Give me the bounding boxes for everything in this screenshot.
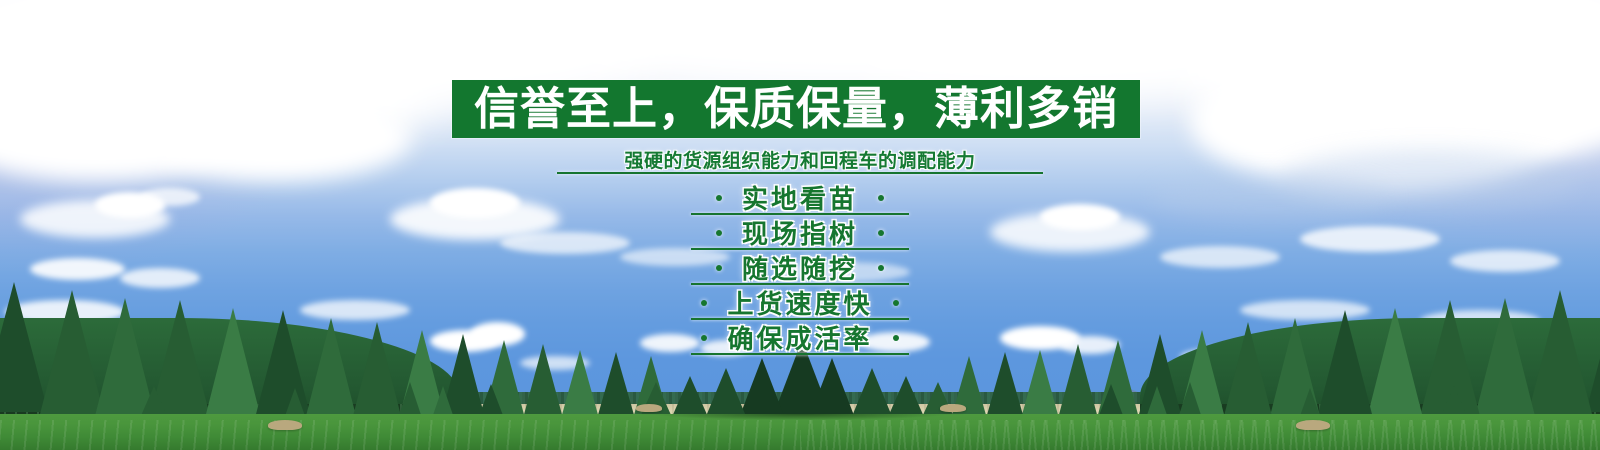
banner-content: 信誉至上，保质保量，薄利多销 强硬的货源组织能力和回程车的调配能力 实地看苗 现… — [0, 0, 1600, 450]
feature-label: 现场指树 — [742, 214, 858, 251]
feature-list: 实地看苗 现场指树 随选随挖 上货速度快 — [0, 180, 1600, 355]
feature-divider — [691, 353, 909, 355]
feature-label: 随选随挖 — [742, 249, 858, 286]
subtitle-underline — [557, 172, 1043, 174]
bullet-dot-icon — [878, 265, 884, 271]
feature-item: 随选随挖 — [0, 250, 1600, 285]
bullet-dot-icon — [878, 195, 884, 201]
bullet-dot-icon — [716, 195, 722, 201]
bullet-dot-icon — [701, 300, 707, 306]
feature-label: 实地看苗 — [742, 179, 858, 216]
promo-banner: 信誉至上，保质保量，薄利多销 强硬的货源组织能力和回程车的调配能力 实地看苗 现… — [0, 0, 1600, 450]
feature-label: 上货速度快 — [727, 284, 872, 321]
bullet-dot-icon — [893, 300, 899, 306]
feature-item: 现场指树 — [0, 215, 1600, 250]
bullet-dot-icon — [701, 335, 707, 341]
feature-item: 实地看苗 — [0, 180, 1600, 215]
bullet-dot-icon — [893, 335, 899, 341]
bullet-dot-icon — [878, 230, 884, 236]
page-title: 信誉至上，保质保量，薄利多销 — [452, 80, 1140, 138]
feature-item: 确保成活率 — [0, 320, 1600, 355]
feature-label: 确保成活率 — [727, 319, 872, 356]
feature-item: 上货速度快 — [0, 285, 1600, 320]
bullet-dot-icon — [716, 265, 722, 271]
banner-subtitle: 强硬的货源组织能力和回程车的调配能力 — [0, 146, 1600, 173]
bullet-dot-icon — [716, 230, 722, 236]
